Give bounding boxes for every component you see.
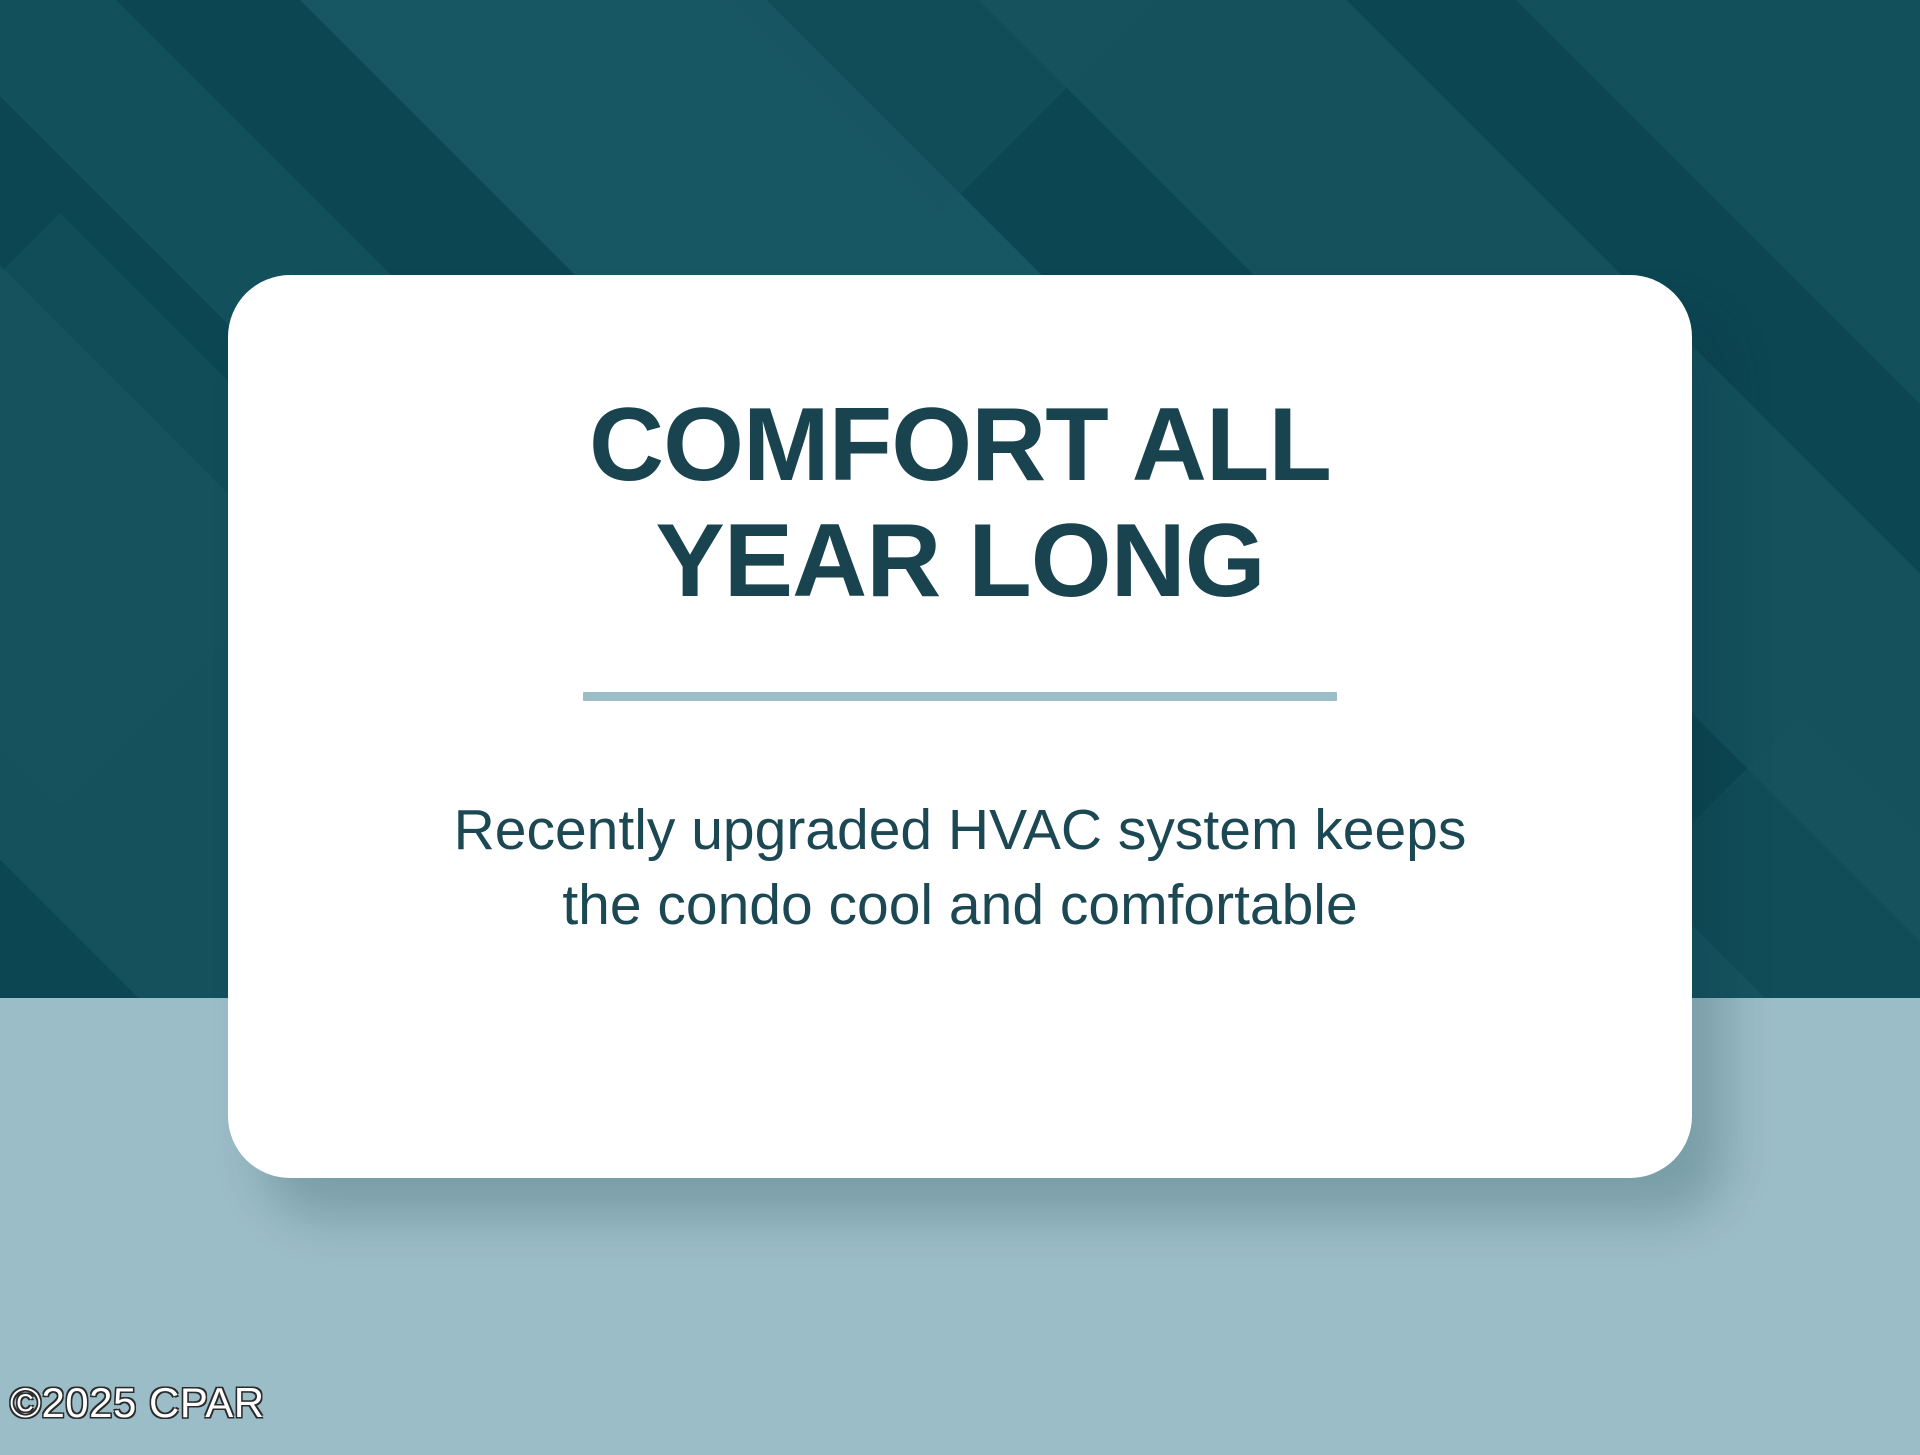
content-card: COMFORT ALL YEAR LONG Recently upgraded … [228,275,1692,1178]
headline-line-1: COMFORT ALL [589,387,1331,503]
subtitle-line-2: the condo cool and comfortable [454,868,1467,943]
headline-line-2: YEAR LONG [589,503,1331,619]
subtitle-text: Recently upgraded HVAC system keeps the … [454,793,1467,943]
subtitle-line-1: Recently upgraded HVAC system keeps [454,793,1467,868]
title-divider [583,692,1337,701]
page-title: COMFORT ALL YEAR LONG [589,387,1331,620]
copyright-notice: ©2025 CPAR [10,1379,265,1427]
